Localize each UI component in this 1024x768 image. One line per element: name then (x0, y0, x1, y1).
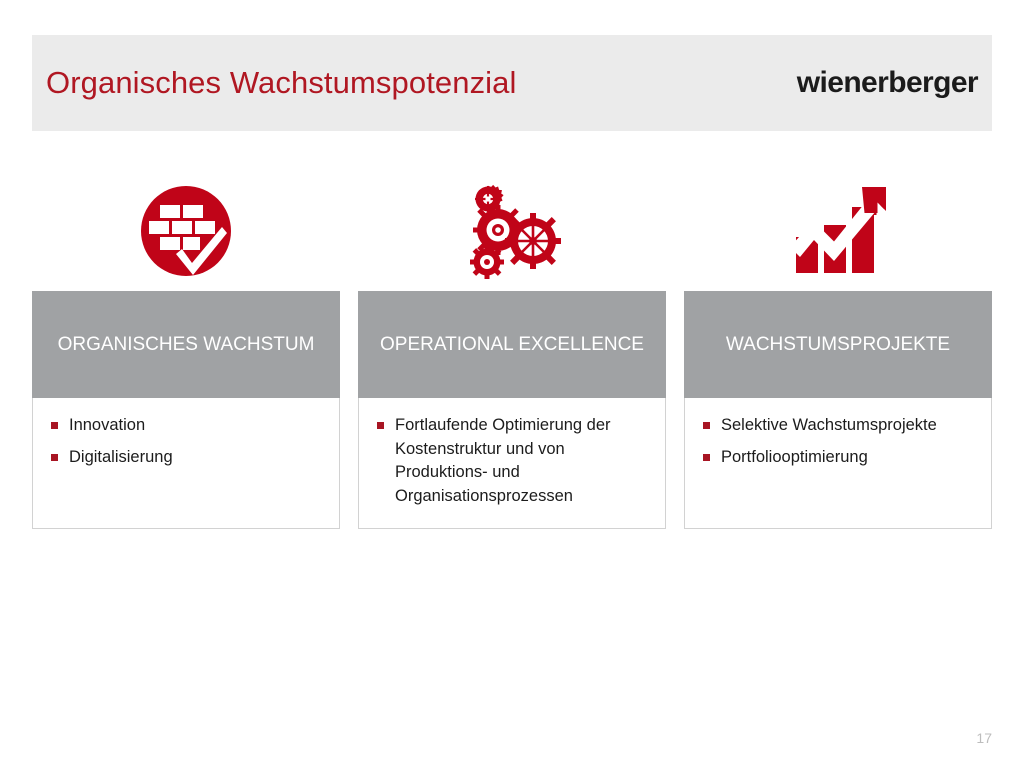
wienerberger-logo: wienerberger (797, 66, 992, 100)
bullet-square-icon (51, 422, 58, 429)
gears-icon (462, 183, 562, 279)
icon-cell-organic-growth (32, 176, 340, 286)
card-row: ORGANISCHES WACHSTUM Innovation Digitali… (32, 291, 992, 529)
card-heading: WACHSTUMSPROJEKTE (684, 291, 992, 398)
list-item-label: Selektive Wachstumsprojekte (721, 416, 937, 434)
list-item-label: Portfoliooptimierung (721, 448, 868, 466)
card-operational-excellence: OPERATIONAL EXCELLENCE Fortlaufende Opti… (358, 291, 666, 529)
card-body: Selektive Wachstumsprojekte Portfolioopt… (684, 398, 992, 529)
page-title: Organisches Wachstumspotenzial (32, 65, 517, 101)
bullet-list: Innovation Digitalisierung (47, 414, 325, 469)
slide-header-band: Organisches Wachstumspotenzial wienerber… (32, 35, 992, 131)
icon-row (32, 176, 992, 286)
bullet-square-icon (377, 422, 384, 429)
list-item: Portfoliooptimierung (699, 446, 977, 470)
list-item-label: Fortlaufende Optimierung der Kostenstruk… (395, 416, 611, 505)
list-item-label: Innovation (69, 416, 145, 434)
card-growth-projects: WACHSTUMSPROJEKTE Selektive Wachstumspro… (684, 291, 992, 529)
slide: Organisches Wachstumspotenzial wienerber… (0, 0, 1024, 768)
growth-chart-arrow-icon (786, 185, 890, 277)
icon-cell-operational-excellence (358, 176, 666, 286)
bullet-square-icon (51, 454, 58, 461)
list-item: Innovation (47, 414, 325, 438)
card-body: Fortlaufende Optimierung der Kostenstruk… (358, 398, 666, 529)
list-item: Fortlaufende Optimierung der Kostenstruk… (373, 414, 651, 508)
list-item: Selektive Wachstumsprojekte (699, 414, 977, 438)
bullet-list: Fortlaufende Optimierung der Kostenstruk… (373, 414, 651, 508)
card-body: Innovation Digitalisierung (32, 398, 340, 529)
list-item: Digitalisierung (47, 446, 325, 470)
icon-cell-growth-projects (684, 176, 992, 286)
card-heading: ORGANISCHES WACHSTUM (32, 291, 340, 398)
page-number: 17 (976, 730, 992, 746)
card-heading: OPERATIONAL EXCELLENCE (358, 291, 666, 398)
bullet-list: Selektive Wachstumsprojekte Portfolioopt… (699, 414, 977, 469)
bullet-square-icon (703, 422, 710, 429)
card-organic-growth: ORGANISCHES WACHSTUM Innovation Digitali… (32, 291, 340, 529)
bullet-square-icon (703, 454, 710, 461)
list-item-label: Digitalisierung (69, 448, 173, 466)
brick-wall-check-icon (138, 183, 234, 279)
